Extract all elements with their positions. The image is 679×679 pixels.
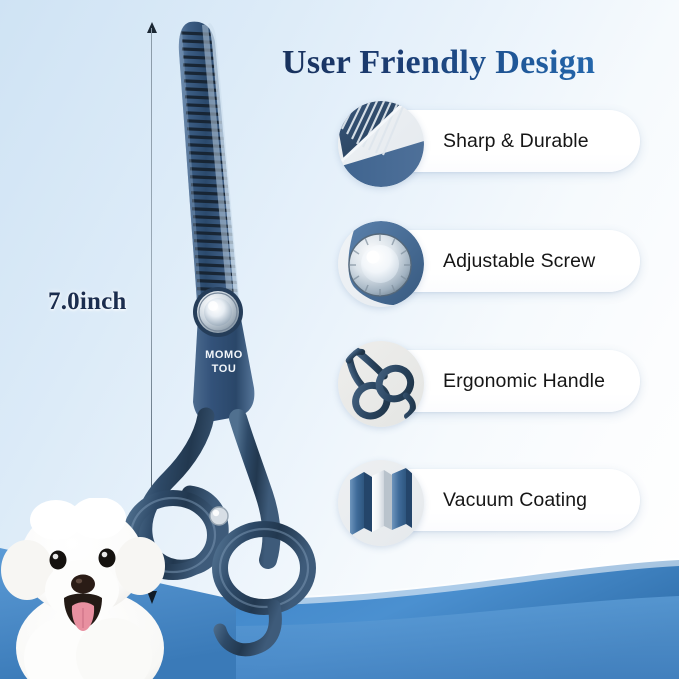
handle-rings-icon <box>338 341 424 427</box>
feature-label: Sharp & Durable <box>443 110 589 172</box>
feature-label: Vacuum Coating <box>443 469 587 531</box>
feature-item-adjustable-screw: Adjustable Screw <box>338 230 640 292</box>
brand-engraving-line-2: TOU <box>212 363 237 375</box>
pivot-screw <box>193 287 243 337</box>
bichon-frise-dog-photo <box>0 498 184 679</box>
brand-engraving-line-1: MOMO <box>205 349 243 361</box>
feature-item-sharp-durable: Sharp & Durable <box>338 110 640 172</box>
blade-teeth-icon <box>338 101 424 187</box>
tension-screw <box>210 507 228 525</box>
infographic-canvas: 7.0inch <box>0 0 679 679</box>
coating-layers-icon <box>338 460 424 546</box>
feature-label: Ergonomic Handle <box>443 350 605 412</box>
feature-label: Adjustable Screw <box>443 230 595 292</box>
feature-item-ergonomic-handle: Ergonomic Handle <box>338 350 640 412</box>
screw-icon <box>338 221 424 307</box>
page-title: User Friendly Design <box>282 44 672 81</box>
feature-item-vacuum-coating: Vacuum Coating <box>338 469 640 531</box>
